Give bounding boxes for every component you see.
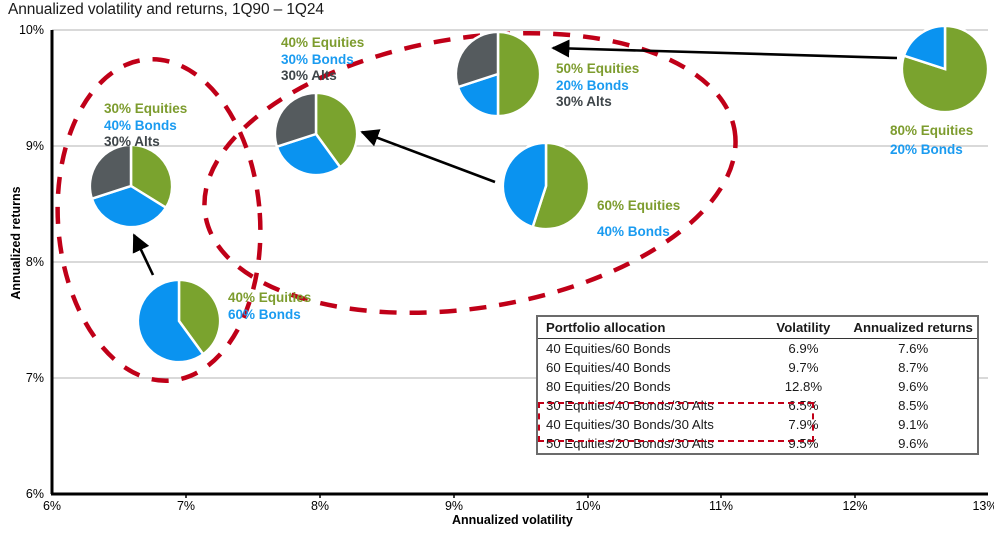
connector-arrows-layer — [0, 0, 994, 537]
callout-equities-label: 30% Equities — [104, 101, 187, 118]
cell-volatility: 7.9% — [758, 415, 846, 434]
callout-bonds-label: 20% Bonds — [556, 78, 639, 95]
callout-alts-label: 30% Alts — [556, 94, 639, 111]
cell-returns: 9.6% — [845, 377, 977, 396]
arrow-60-40-to-40-30-30 — [362, 132, 495, 182]
cell-returns: 7.6% — [845, 339, 977, 359]
cell-volatility: 6.9% — [758, 339, 846, 359]
cell-volatility: 9.7% — [758, 358, 846, 377]
callout-40-60: 40% Equities 60% Bonds — [228, 290, 311, 323]
table-row: 40 Equities/30 Bonds/30 Alts 7.9% 9.1% — [538, 415, 977, 434]
callout-40-30-30: 40% Equities 30% Bonds 30% Alts — [281, 35, 364, 85]
callout-alts-label: 30% Alts — [281, 68, 364, 85]
cell-returns: 8.5% — [845, 396, 977, 415]
header-volatility: Volatility — [758, 317, 846, 339]
callout-equities-label: 40% Equities — [228, 290, 311, 307]
header-annualized-returns: Annualized returns — [845, 317, 977, 339]
arrow-40-60-to-30-40-30 — [134, 235, 153, 275]
cell-returns: 9.6% — [845, 434, 977, 453]
table-row: 50 Equities/20 Bonds/30 Alts 9.5% 9.6% — [538, 434, 977, 453]
callout-50-20-30: 50% Equities 20% Bonds 30% Alts — [556, 61, 639, 111]
cell-allocation: 80 Equities/20 Bonds — [538, 377, 758, 396]
callout-bonds-label: 40% Bonds — [104, 118, 187, 135]
callout-60-40: 60% Equities 40% Bonds — [597, 198, 680, 240]
cell-allocation: 60 Equities/40 Bonds — [538, 358, 758, 377]
cell-volatility: 9.5% — [758, 434, 846, 453]
callout-equities-label: 50% Equities — [556, 61, 639, 78]
chart-root: Annualized volatility and returns, 1Q90 … — [0, 0, 994, 537]
callout-equities-label: 60% Equities — [597, 198, 680, 215]
header-portfolio-allocation: Portfolio allocation — [538, 317, 758, 339]
cell-returns: 9.1% — [845, 415, 977, 434]
callout-80-20: 80% Equities 20% Bonds — [890, 123, 973, 158]
cell-allocation: 40 Equities/30 Bonds/30 Alts — [538, 415, 758, 434]
callout-30-40-30: 30% Equities 40% Bonds 30% Alts — [104, 101, 187, 151]
table-header-row: Portfolio allocation Volatility Annualiz… — [538, 317, 977, 339]
cell-volatility: 12.8% — [758, 377, 846, 396]
cell-allocation: 30 Equities/40 Bonds/30 Alts — [538, 396, 758, 415]
cell-allocation: 40 Equities/60 Bonds — [538, 339, 758, 359]
table-row: 40 Equities/60 Bonds 6.9% 7.6% — [538, 339, 977, 359]
callout-bonds-label: 40% Bonds — [597, 224, 680, 241]
callout-alts-label: 30% Alts — [104, 134, 187, 151]
cell-returns: 8.7% — [845, 358, 977, 377]
table-row: 30 Equities/40 Bonds/30 Alts 6.5% 8.5% — [538, 396, 977, 415]
callout-bonds-label: 20% Bonds — [890, 142, 973, 159]
portfolio-allocation-table: Portfolio allocation Volatility Annualiz… — [536, 315, 979, 455]
table-row: 80 Equities/20 Bonds 12.8% 9.6% — [538, 377, 977, 396]
cell-allocation: 50 Equities/20 Bonds/30 Alts — [538, 434, 758, 453]
table-row: 60 Equities/40 Bonds 9.7% 8.7% — [538, 358, 977, 377]
callout-equities-label: 40% Equities — [281, 35, 364, 52]
arrow-80-20-to-50-20-30 — [553, 48, 897, 58]
cell-volatility: 6.5% — [758, 396, 846, 415]
callout-bonds-label: 30% Bonds — [281, 52, 364, 69]
callout-equities-label: 80% Equities — [890, 123, 973, 140]
callout-bonds-label: 60% Bonds — [228, 307, 311, 324]
